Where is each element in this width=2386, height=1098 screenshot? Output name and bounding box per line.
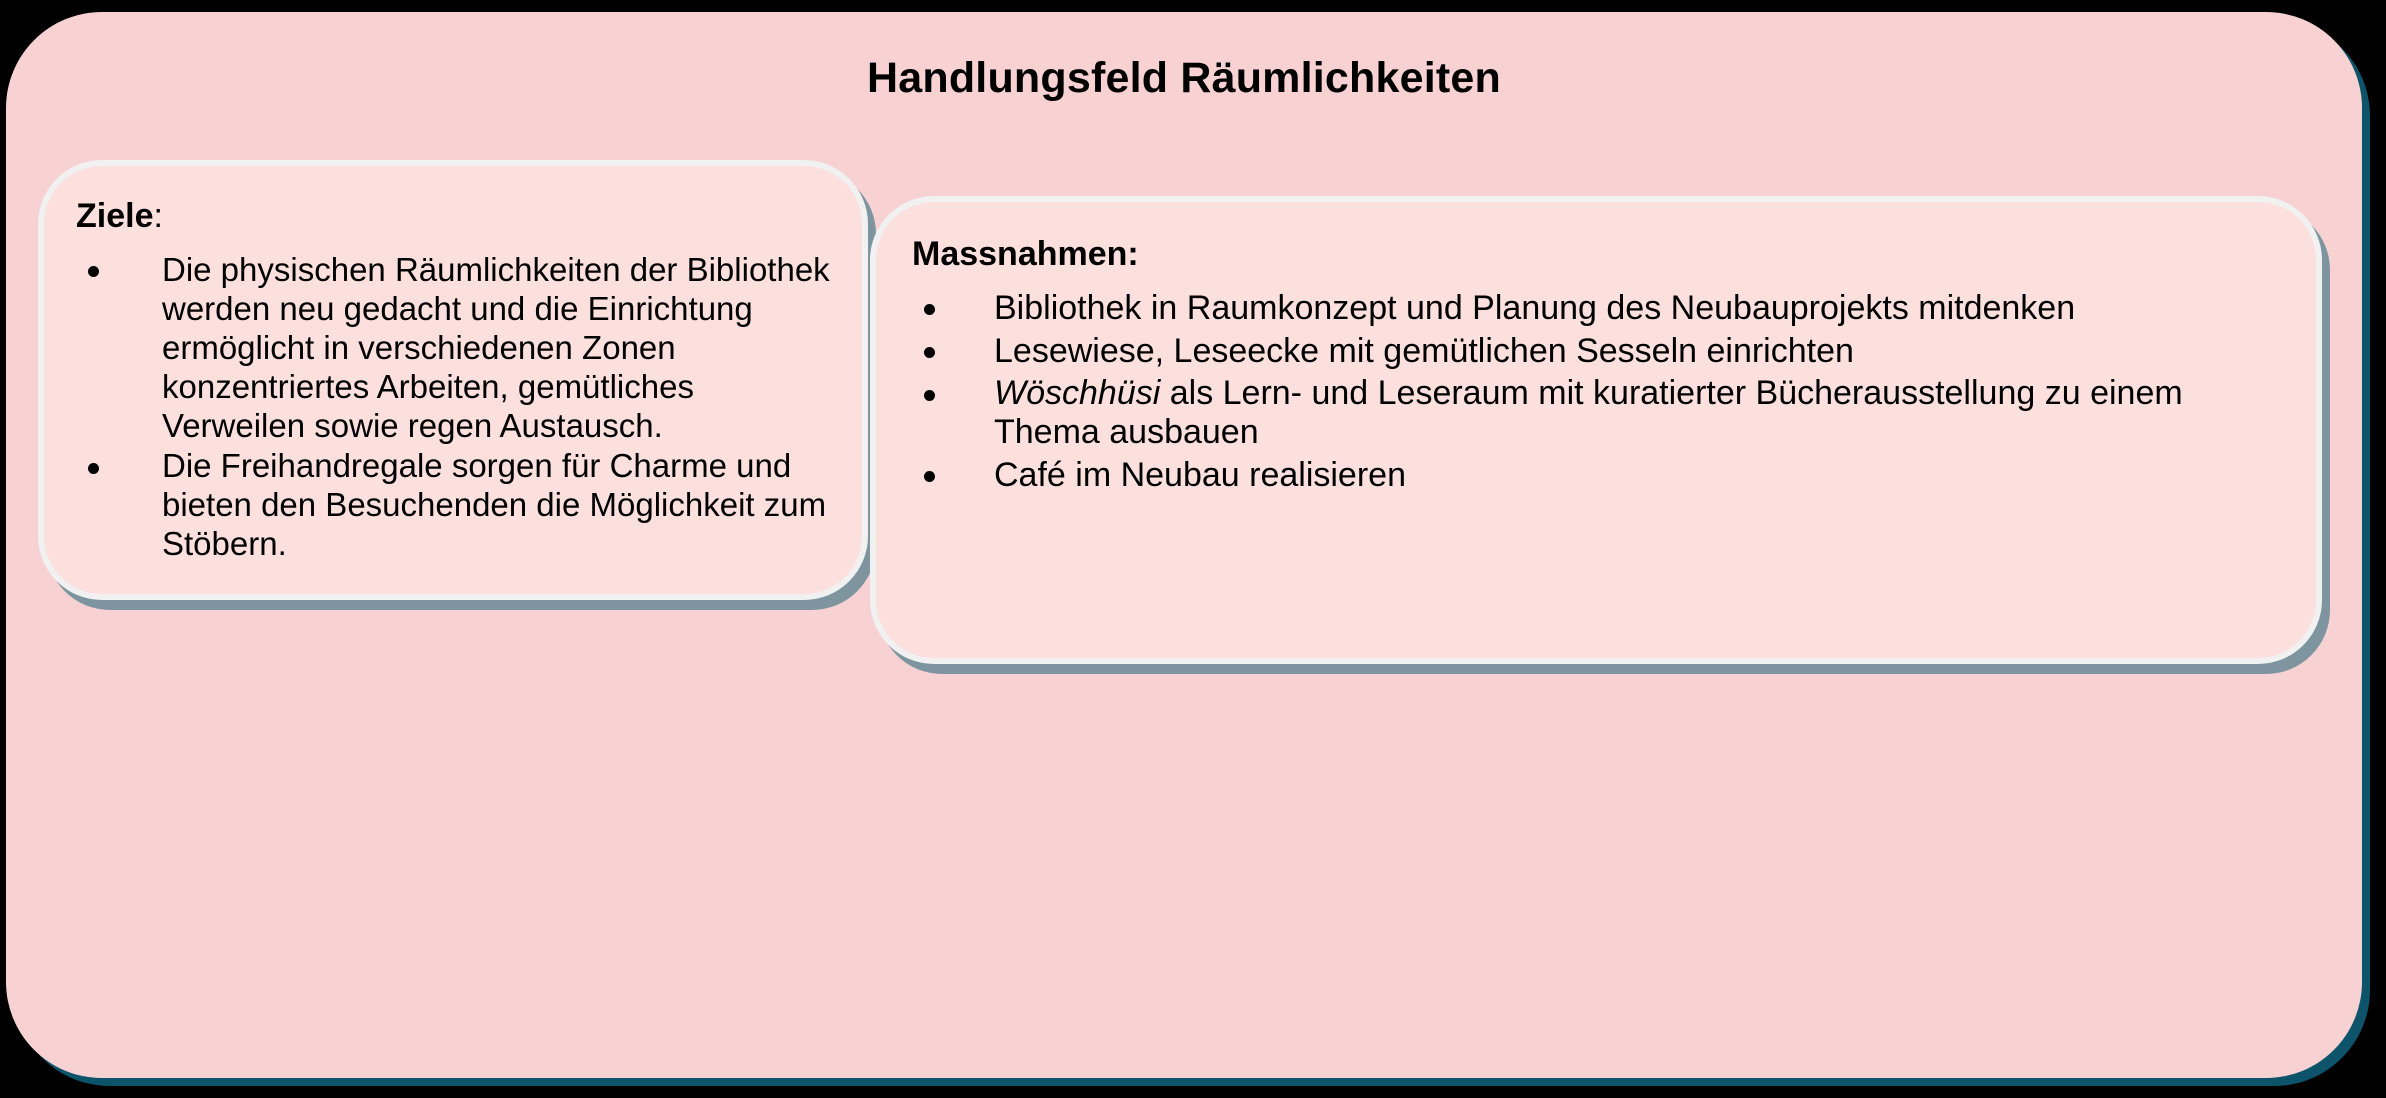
goals-card-body: Ziele: Die physischen Räumlichkeiten der… xyxy=(44,166,862,594)
list-item-text: als Lern- und Leseraum mit kuratierter B… xyxy=(994,374,2183,451)
list-item-text: Die Freihandregale sorgen für Charme und… xyxy=(162,447,826,562)
measures-card: Massnahmen: Bibliothek in Raumkonzept un… xyxy=(876,202,2316,658)
slide-canvas: Handlungsfeld Räumlichkeiten Ziele: Die … xyxy=(0,0,2386,1098)
list-item: Lesewiese, Leseecke mit gemütlichen Sess… xyxy=(912,332,2286,371)
page-title: Handlungsfeld Räumlichkeiten xyxy=(6,54,2362,103)
measures-heading: Massnahmen: xyxy=(912,234,2286,275)
list-item-text: Café im Neubau realisieren xyxy=(994,456,1406,494)
list-item-emphasis: Wöschhüsi xyxy=(994,374,1160,412)
bullet-dot-icon xyxy=(924,347,935,358)
list-item: Wöschhüsi als Lern- und Leseraum mit kur… xyxy=(912,374,2286,452)
bullet-dot-icon xyxy=(924,471,935,482)
list-item-text: Lesewiese, Leseecke mit gemütlichen Sess… xyxy=(994,332,1854,370)
list-item-text: Bibliothek in Raumkonzept und Planung de… xyxy=(994,289,2075,327)
bullet-dot-icon xyxy=(88,266,99,277)
list-item-text: Die physischen Räumlichkeiten der Biblio… xyxy=(162,251,830,444)
list-item: Bibliothek in Raumkonzept und Planung de… xyxy=(912,289,2286,328)
list-item: Die Freihandregale sorgen für Charme und… xyxy=(76,447,838,564)
goals-card: Ziele: Die physischen Räumlichkeiten der… xyxy=(44,166,862,594)
measures-bullet-list: Bibliothek in Raumkonzept und Planung de… xyxy=(912,289,2286,495)
bullet-dot-icon xyxy=(88,463,99,474)
measures-card-body: Massnahmen: Bibliothek in Raumkonzept un… xyxy=(876,202,2316,658)
list-item: Café im Neubau realisieren xyxy=(912,456,2286,495)
goals-heading-label: Ziele xyxy=(76,197,153,235)
bullet-dot-icon xyxy=(924,390,935,401)
goals-heading: Ziele: xyxy=(76,196,838,237)
bullet-dot-icon xyxy=(924,304,935,315)
goals-bullet-list: Die physischen Räumlichkeiten der Biblio… xyxy=(76,251,838,565)
goals-heading-colon: : xyxy=(153,197,162,235)
list-item: Die physischen Räumlichkeiten der Biblio… xyxy=(76,251,838,446)
